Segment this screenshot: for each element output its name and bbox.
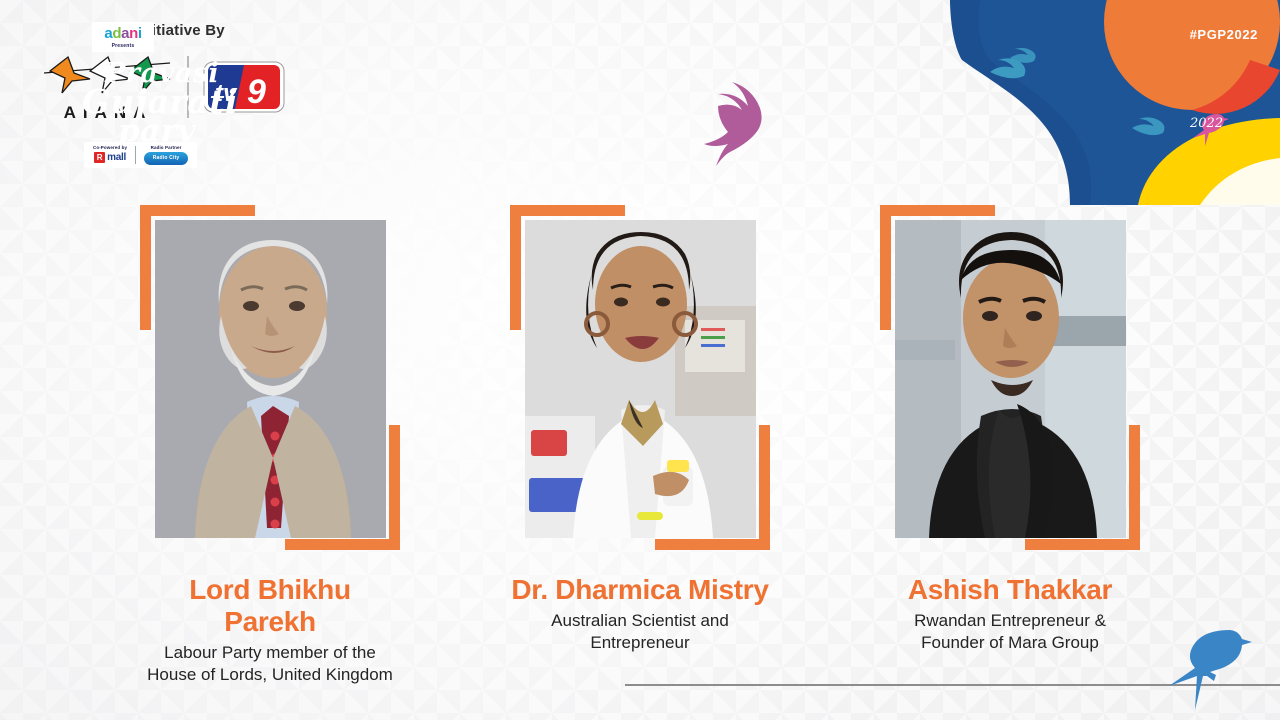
speaker-name: Lord Bhikhu Parekh (140, 574, 400, 638)
speaker-role-line2: Entrepreneur (510, 632, 770, 654)
rmall-mark-icon: R (94, 152, 105, 163)
speaker-role-line2: House of Lords, United Kingdom (140, 664, 400, 686)
speaker-card[interactable]: Ashish Thakkar Rwandan Entrepreneur & Fo… (880, 205, 1140, 686)
speaker-name: Dr. Dharmica Mistry (510, 574, 770, 606)
rmall-wordmark: mall (107, 152, 126, 163)
adani-sponsor-logo: adani Presents (92, 22, 154, 52)
rmall-logo: R mall (93, 152, 127, 163)
speaker-photo-frame (140, 205, 400, 550)
speaker-role: Australian Scientist and Entrepreneur (510, 610, 770, 654)
speaker-photo (525, 220, 756, 538)
sponsor-divider-icon (135, 146, 136, 164)
speaker-role: Labour Party member of the House of Lord… (140, 642, 400, 686)
adani-presents-label: Presents (101, 43, 145, 49)
flying-bird-icon (700, 72, 804, 176)
speaker-role-line1: Rwandan Entrepreneur & (880, 610, 1140, 632)
speaker-card[interactable]: Dr. Dharmica Mistry Australian Scientist… (510, 205, 770, 686)
speaker-role-line1: Labour Party member of the (140, 642, 400, 664)
speaker-name: Ashish Thakkar (880, 574, 1140, 606)
radio-partner-caption: Radio Partner (144, 145, 188, 150)
adani-wordmark: adani (101, 26, 145, 42)
initiative-label: An Initiative By (48, 22, 290, 39)
speakers-row: Lord Bhikhu Parekh Labour Party member o… (0, 205, 1280, 686)
speaker-card[interactable]: Lord Bhikhu Parekh Labour Party member o… (140, 205, 400, 686)
speaker-photo (155, 220, 386, 538)
sponsor-radio: Radio Partner Radio City (140, 145, 192, 165)
speaker-photo-frame (880, 205, 1140, 550)
sponsor-copowered: Co-Powered by R mall (89, 145, 131, 165)
copowered-caption: Co-Powered by (93, 145, 127, 150)
speaker-role-line1: Australian Scientist and (510, 610, 770, 632)
speaker-role: Rwandan Entrepreneur & Founder of Mara G… (880, 610, 1140, 654)
speaker-photo (895, 220, 1126, 538)
sponsor-strip: Co-Powered by R mall Radio Partner Radio… (84, 142, 197, 168)
speaker-photo-frame (510, 205, 770, 550)
radio-city-logo-icon: Radio City (144, 152, 188, 165)
event-hashtag: #PGP2022 (1190, 27, 1258, 42)
svg-text:9: 9 (247, 73, 266, 111)
speaker-role-line2: Founder of Mara Group (880, 632, 1140, 654)
badge-title-year: 2022 (1190, 116, 1223, 131)
